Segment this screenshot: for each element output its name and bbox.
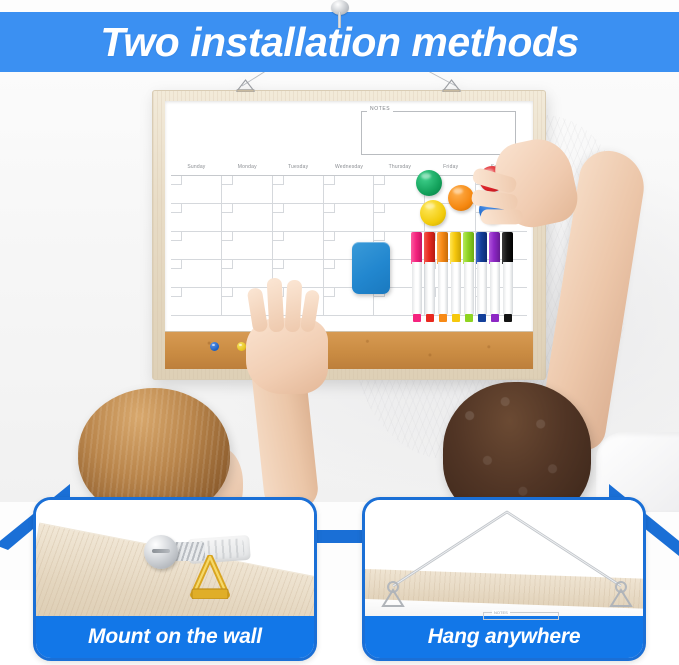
calendar-cell	[171, 176, 222, 204]
day-header-monday: Monday	[222, 164, 273, 175]
marker-green	[463, 232, 474, 322]
marker-orange	[437, 232, 448, 322]
marker-black	[502, 232, 513, 322]
calendar-cell	[171, 288, 222, 316]
day-header-wednesday: Wednesday	[324, 164, 375, 175]
notes-label: NOTES	[367, 106, 393, 112]
card-label-text: Mount on the wall	[88, 625, 262, 649]
whiteboard: NOTES Sunday Monday Tuesday Wednesday Th…	[152, 90, 546, 380]
screw-and-anchor-assembly	[144, 533, 254, 581]
calendar-cell	[273, 204, 324, 232]
finger	[267, 278, 285, 333]
push-pin-blue	[210, 342, 219, 351]
magnet-orange	[448, 185, 474, 211]
notes-label-mini: NOTES	[492, 610, 510, 615]
day-header-sunday: Sunday	[171, 164, 222, 175]
screw-head-icon	[144, 535, 178, 569]
calendar-cell	[374, 204, 425, 232]
wall-screw	[329, 0, 351, 26]
calendar-cell	[324, 176, 375, 204]
card-label-hang: Hang anywhere	[365, 616, 643, 658]
magnet-green	[416, 170, 442, 196]
notes-box-mini: NOTES	[483, 612, 559, 620]
magnet-yellow	[420, 200, 446, 226]
card-mount-on-the-wall[interactable]: Mount on the wall	[33, 497, 317, 661]
card-label-text: Hang anywhere	[428, 625, 581, 649]
triangle-bracket-right	[442, 79, 461, 92]
calendar-cell	[222, 260, 273, 288]
marker-pink	[411, 232, 422, 322]
calendar-cell	[171, 204, 222, 232]
hanging-chain-icon	[365, 500, 643, 622]
marker-set	[411, 232, 513, 322]
calendar-cell	[222, 204, 273, 232]
gold-triangle-bracket-icon	[190, 555, 230, 599]
push-pin-yellow	[237, 342, 246, 351]
person-left-hand	[246, 318, 328, 394]
day-header-thursday: Thursday	[374, 164, 425, 175]
marker-yellow	[450, 232, 461, 322]
calendar-cell	[222, 176, 273, 204]
card-photo-mount	[36, 500, 314, 622]
card-photo-hang: NOTES	[365, 500, 643, 622]
product-image-stage: NOTES Sunday Monday Tuesday Wednesday Th…	[0, 0, 679, 665]
day-header-tuesday: Tuesday	[273, 164, 324, 175]
card-hang-anywhere[interactable]: NOTES Hang anywhere	[362, 497, 646, 661]
marker-purple	[489, 232, 500, 322]
marker-red	[424, 232, 435, 322]
finger	[481, 209, 523, 224]
calendar-cell	[171, 232, 222, 260]
magnetic-eraser	[352, 242, 390, 294]
card-label-mount: Mount on the wall	[36, 616, 314, 658]
calendar-cell	[273, 232, 324, 260]
cork-board-strip	[165, 331, 533, 369]
notes-box	[361, 111, 516, 155]
calendar-cell	[171, 260, 222, 288]
screw-shaft	[338, 12, 341, 28]
calendar-cell	[324, 204, 375, 232]
marker-blue	[476, 232, 487, 322]
calendar-cell	[222, 232, 273, 260]
calendar-cell	[273, 176, 324, 204]
triangle-bracket-left	[236, 79, 255, 92]
